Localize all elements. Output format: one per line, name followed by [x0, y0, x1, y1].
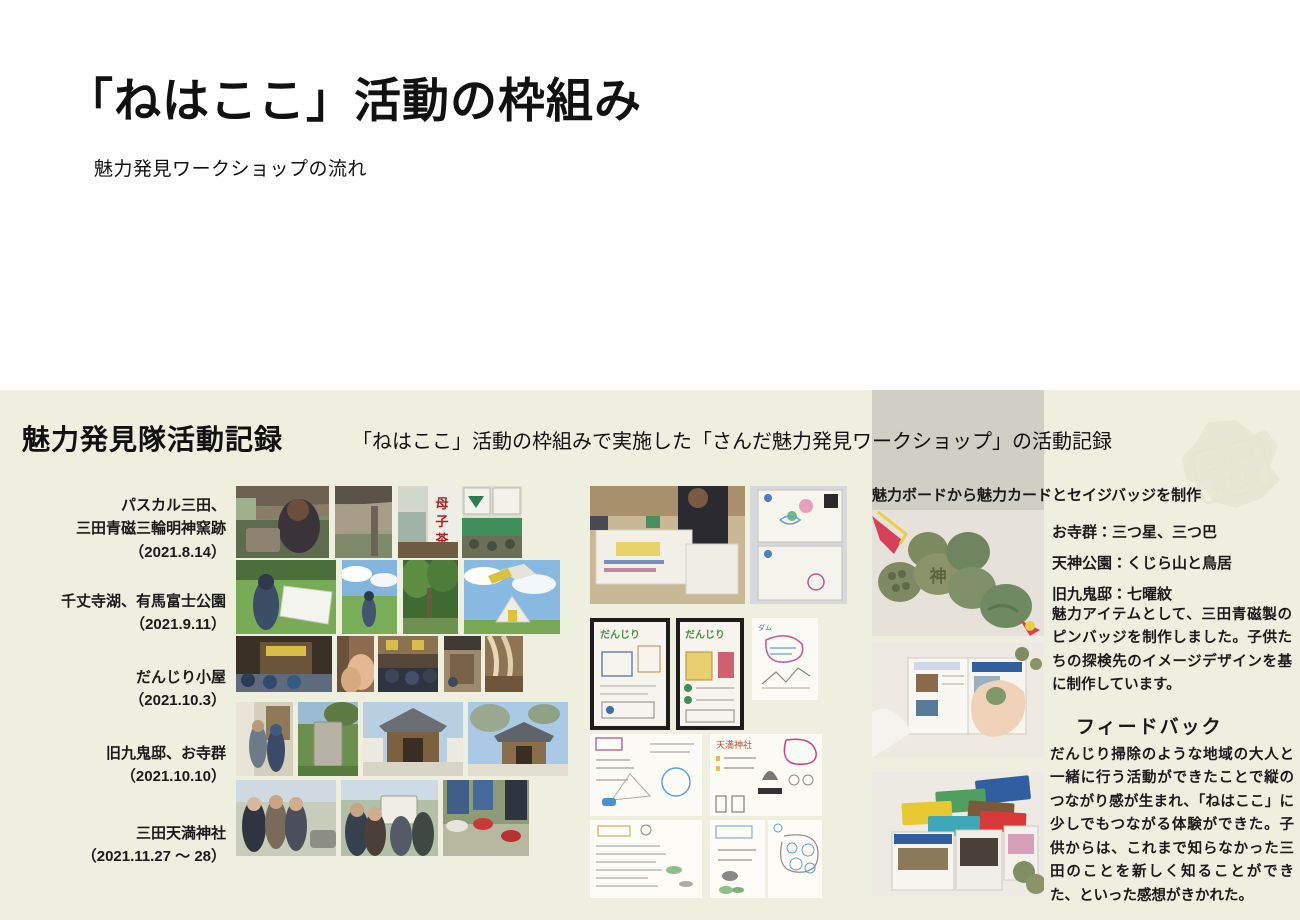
trip-label-1-place2: 三田青磁三輪明神窯跡	[76, 520, 226, 537]
photo-trip2-2	[342, 560, 397, 634]
photo-trip3-2	[337, 636, 374, 692]
trip-label-5-place: 三田天満神社	[136, 825, 226, 842]
svg-text:だんじり: だんじり	[685, 629, 725, 641]
svg-text:三田魅力: 三田魅力	[1204, 439, 1275, 475]
trip-label-5-date: （2021.11.27 〜 28）	[22, 845, 226, 868]
photo-poster-danjiri-1: だんじり	[590, 618, 670, 730]
trip-label-4: 旧九鬼邸、お寺群 （2021.10.10）	[30, 742, 226, 789]
trip-label-2: 千丈寺湖、有馬富士公園 （2021.9.11）	[30, 590, 226, 637]
photo-memo-tenman-2	[710, 820, 765, 898]
page-title: 「ねはここ」活動の枠組み	[66, 62, 642, 131]
photo-poster-tenman-2: 天満神社	[710, 734, 822, 816]
photo-trip1-1	[236, 486, 329, 558]
trip-label-2-place: 千丈寺湖、有馬富士公園	[61, 593, 226, 610]
photo-trip1-4	[462, 486, 522, 558]
feedback-heading: フィードバック	[1076, 712, 1223, 739]
trip-label-3-place: だんじり小屋	[136, 669, 226, 686]
badge-item-1: お寺群：三つ星、三つ巴	[1052, 518, 1232, 549]
photo-trip5-1	[236, 780, 336, 856]
svg-text:天満神社: 天満神社	[716, 739, 752, 750]
svg-text:神: 神	[929, 566, 947, 586]
photo-trip5-3	[443, 780, 529, 856]
photo-trip4-4	[468, 702, 568, 776]
svg-text:だんじり: だんじり	[600, 629, 640, 641]
photo-trip1-2	[335, 486, 392, 558]
trip-label-1: パスカル三田、 三田青磁三輪明神窯跡 （2021.8.14）	[30, 494, 226, 564]
photo-memo-dam: ダム	[752, 618, 818, 700]
photo-trip2-3	[403, 560, 458, 634]
badge-item-list: お寺群：三つ星、三つ巴 天神公園：くじら山と鳥居 旧九鬼邸：七曜紋	[1052, 518, 1232, 610]
trip-label-1-place: パスカル三田、	[121, 497, 226, 514]
trip-label-2-date: （2021.9.11）	[30, 613, 226, 636]
photo-finished-cards	[872, 772, 1044, 896]
photo-trip3-5	[485, 636, 523, 692]
section-title: 魅力発見隊活動記録	[22, 418, 283, 458]
svg-text:ダム: ダム	[758, 623, 772, 632]
feedback-paragraph: だんじり掃除のような地域の大人と一緒に行う活動ができたことで縦のつながり感が生ま…	[1050, 744, 1294, 908]
photo-card-booklet	[872, 642, 1044, 758]
trip-label-5: 三田天満神社 （2021.11.27 〜 28）	[22, 822, 226, 869]
photo-trip4-2	[298, 702, 358, 776]
photo-trip3-4	[444, 636, 481, 692]
flow-section: 「ねはここ」活動の枠組み 魅力発見ワークショップの流れ	[0, 0, 1300, 388]
photo-memo-tenman-1	[590, 820, 702, 898]
photo-trip3-1	[236, 636, 332, 692]
trip-label-3: だんじり小屋 （2021.10.3）	[30, 666, 226, 713]
photo-trip3-3	[378, 636, 438, 692]
svg-text:母: 母	[435, 496, 448, 511]
trip-label-4-place: 旧九鬼邸、お寺群	[106, 745, 226, 762]
slide-root: 「ねはここ」活動の枠組み 魅力発見ワークショップの流れ	[0, 0, 1300, 920]
badge-item-2: 天神公園：くじら山と鳥居	[1052, 549, 1232, 580]
flow-subtitle: 魅力発見ワークショップの流れ	[94, 154, 367, 181]
badge-description-paragraph: 魅力アイテムとして、三田青磁製のピンバッジを制作しました。子供たちの探検先のイメ…	[1052, 604, 1292, 698]
section-caption: 「ねはここ」活動の枠組みで実施した「さんだ魅力発見ワークショップ」の活動記録	[352, 425, 1112, 454]
photo-workshop-desk	[590, 486, 745, 604]
trip-label-4-date: （2021.10.10）	[30, 765, 226, 788]
badge-section-heading: 魅力ボードから魅力カードとセイジバッジを制作	[872, 484, 1201, 505]
photo-trip2-4	[464, 560, 560, 634]
photo-completed-board	[750, 486, 847, 604]
photo-trip4-3	[363, 702, 463, 776]
trip-label-3-date: （2021.10.3）	[30, 689, 226, 712]
photo-trip5-2	[341, 780, 438, 856]
svg-text:発見隊: 発見隊	[1208, 465, 1263, 497]
photo-trip2-1	[236, 560, 336, 634]
svg-text:子: 子	[435, 514, 448, 529]
trip-label-1-date: （2021.8.14）	[30, 541, 226, 564]
photo-trip1-3: 母 子 茶	[398, 486, 458, 558]
photo-poster-tenman-1	[590, 734, 702, 816]
photo-memo-feedback-map	[768, 820, 822, 898]
photo-trip4-1	[236, 702, 293, 776]
photo-poster-danjiri-2: だんじり	[676, 618, 744, 730]
workshop-flow-diagram: 魅力発見隊を 結成 探検先を選ぶ 魅力発見に 出かける 探検して 魅力発見 魅力…	[0, 195, 1300, 375]
photo-seiji-badges-real: 神	[872, 510, 1044, 636]
